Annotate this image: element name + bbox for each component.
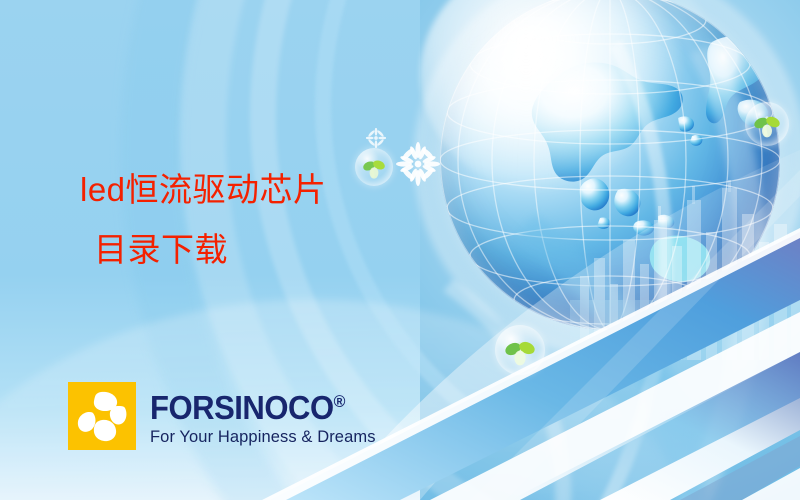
forsinoco-pinwheel-mark-icon: [68, 382, 136, 450]
logo-text-block: FORSINOCO® For Your Happiness & Dreams: [150, 385, 376, 447]
headline-line-2: 目录下载: [80, 220, 420, 280]
brand-tagline: For Your Happiness & Dreams: [150, 427, 376, 447]
bubble-sprout-right: [745, 102, 789, 146]
headline-line-1: led恒流驱动芯片: [80, 171, 327, 208]
bubble-sprout-center: [495, 325, 545, 375]
headline-text: led恒流驱动芯片 目录下载: [80, 160, 420, 280]
brand-name: FORSINOCO®: [150, 385, 362, 424]
registered-trademark-icon: ®: [334, 392, 346, 411]
starburst-flower-small-icon: [366, 128, 386, 148]
green-sprout-icon: [745, 102, 789, 146]
brand-word: FORSINOCO: [150, 389, 334, 426]
forsinoco-logo: FORSINOCO® For Your Happiness & Dreams: [68, 382, 376, 450]
green-sprout-icon: [495, 325, 545, 375]
slide-canvas: led恒流驱动芯片 目录下载 FORSINOCO® For Your Happi…: [0, 0, 800, 500]
